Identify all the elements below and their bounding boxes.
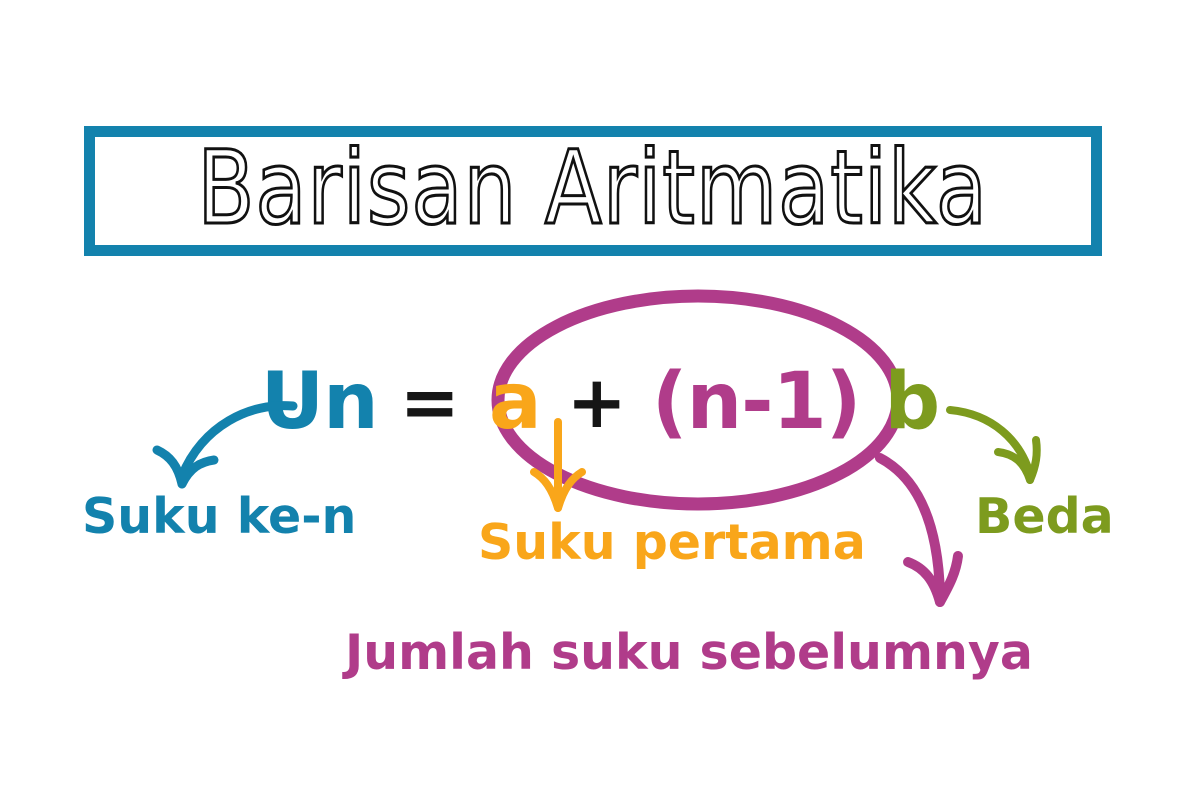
annotation-label-suku-ke-n: Suku ke-n: [82, 492, 356, 541]
formula-row: Un = a + (n-1) b: [0, 352, 1200, 452]
annotation-label-jumlah-suku-sebelumnya: Jumlah suku sebelumnya: [345, 628, 1033, 677]
formula-token-b: b: [884, 363, 939, 441]
annotation-label-beda: Beda: [975, 492, 1114, 541]
annotation-label-suku-pertama: Suku pertama: [478, 518, 866, 567]
diagram-canvas: Barisan Aritmatika Un = a + (n-1) b Suku…: [0, 0, 1200, 800]
formula-token-equals: =: [400, 366, 459, 438]
title-box: Barisan Aritmatika: [84, 126, 1102, 256]
formula-token-plus: +: [567, 366, 626, 438]
formula-token-a: a: [489, 363, 541, 441]
formula-token-un: Un: [261, 363, 378, 441]
page-title: Barisan Aritmatika: [198, 138, 989, 244]
formula-token-n-minus-1: (n-1): [652, 363, 860, 441]
